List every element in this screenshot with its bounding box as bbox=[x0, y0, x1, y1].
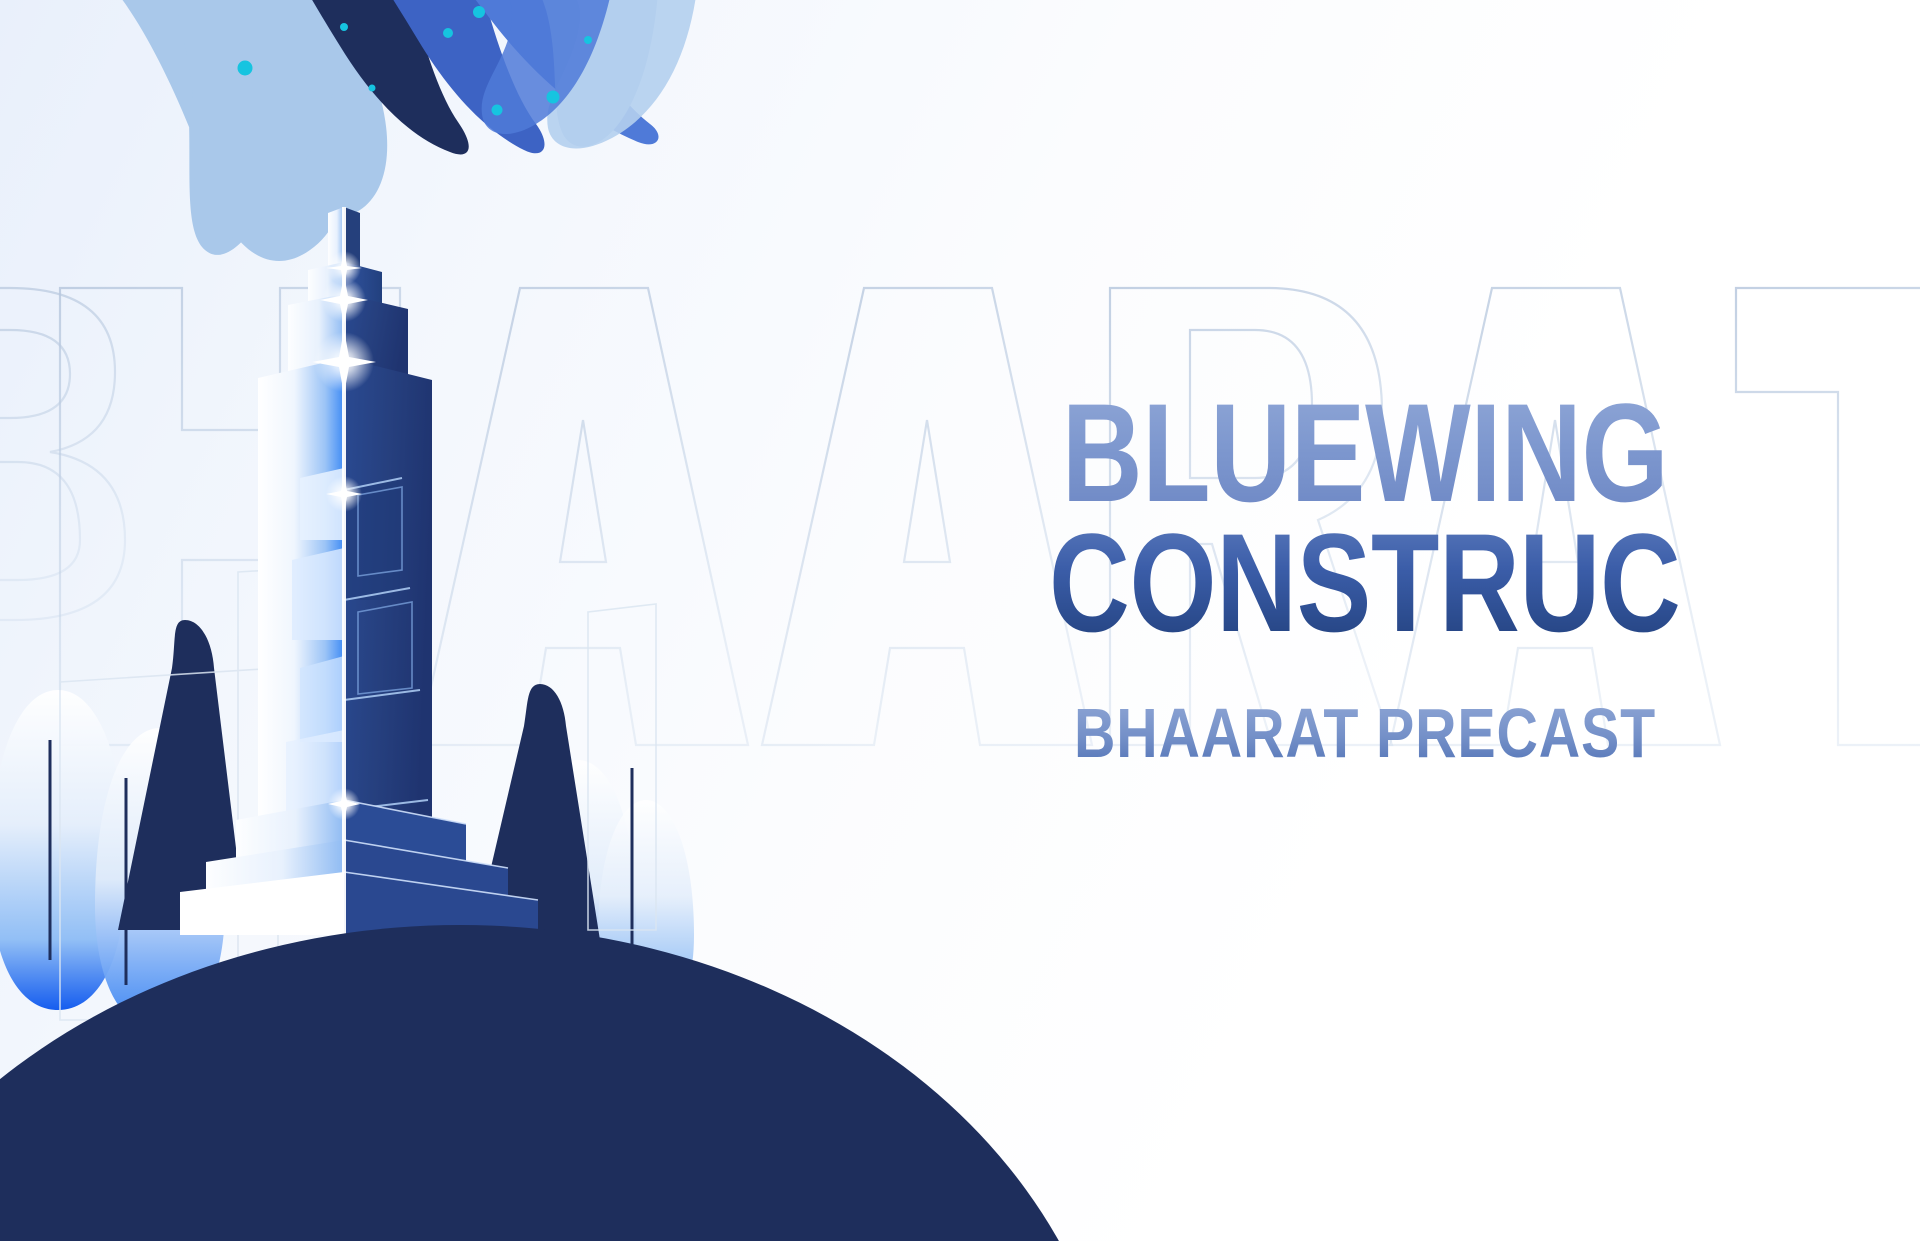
logo-canvas: BLUEWING CONSTRUCTION BHAARAT PRECAST bbox=[0, 0, 1920, 1241]
brand-text-block: BLUEWING CONSTRUCTION BHAARAT PRECAST bbox=[970, 385, 1760, 773]
brand-title-line1: BLUEWING bbox=[1049, 385, 1681, 521]
tower-notch-light2 bbox=[292, 548, 344, 640]
sparkle bbox=[328, 788, 360, 820]
brand-tagline: BHAARAT PRECAST bbox=[1041, 693, 1689, 773]
brand-title-line2: CONSTRUCTION bbox=[1049, 515, 1681, 651]
sparkle bbox=[326, 476, 362, 512]
tower-notch-light3 bbox=[300, 656, 344, 742]
skyscraper-tower bbox=[180, 207, 538, 937]
